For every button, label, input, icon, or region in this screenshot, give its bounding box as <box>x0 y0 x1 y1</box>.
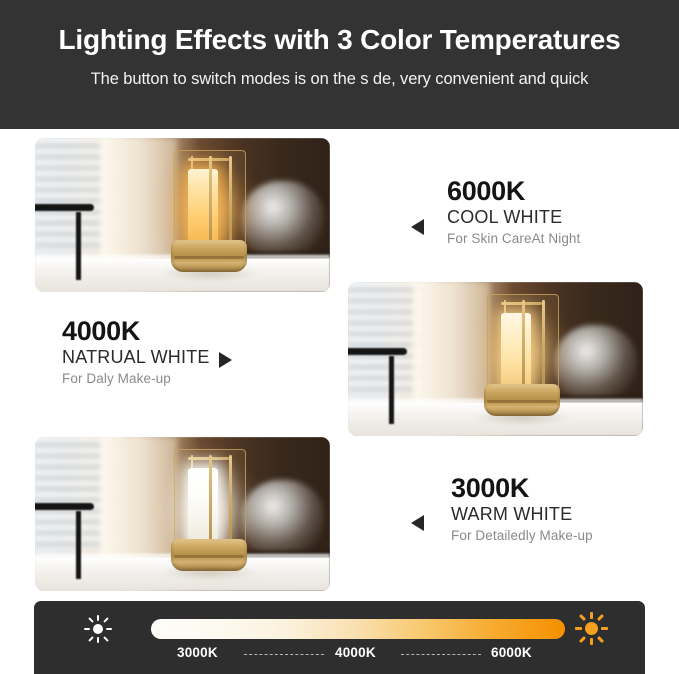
tick-label-6000k: 6000K <box>491 645 532 660</box>
caption-6000k: 6000K COOL WHITE For Skin CareAt Night <box>447 177 580 249</box>
product-photo-6000k <box>35 138 330 292</box>
room-scene <box>348 282 643 436</box>
mode-usage: For Detailedly Make-up <box>451 527 593 546</box>
kelvin-value: 4000K <box>62 317 210 345</box>
lamp-shadow <box>158 267 259 280</box>
mode-usage: For Daly Make-up <box>62 370 210 389</box>
tick-connector <box>401 654 481 655</box>
kelvin-value: 3000K <box>451 474 593 502</box>
table-lamp <box>171 150 248 282</box>
sun-core <box>585 622 598 635</box>
sun-dim-icon <box>84 615 112 643</box>
mode-name: NATRUAL WHITE <box>62 345 210 369</box>
mode-usage: For Skin CareAt Night <box>447 230 580 249</box>
lamp-light-tube <box>188 169 219 246</box>
tick-connector <box>244 654 324 655</box>
black-stand-arm <box>35 204 94 211</box>
table-lamp <box>484 294 561 426</box>
sun-core <box>93 624 103 634</box>
lamp-bar <box>209 455 212 545</box>
black-stand-pole <box>76 511 81 579</box>
sun-bright-icon <box>575 612 608 645</box>
lamp-shadow <box>158 566 259 579</box>
lamp-bar <box>209 156 212 246</box>
caption-3000k: 3000K WARM WHITE For Detailedly Make-up <box>451 474 593 546</box>
color-temperature-gradient-bar[interactable] <box>151 619 565 639</box>
lamp-shadow <box>471 411 572 424</box>
lamp-bar <box>229 455 232 545</box>
table-lamp <box>171 449 248 581</box>
triangle-left-icon <box>411 219 424 235</box>
lamp-base-band <box>174 555 245 558</box>
black-stand-arm <box>35 503 94 510</box>
curtain <box>413 282 490 405</box>
slider-tick-labels: 3000K 4000K 6000K <box>151 645 565 667</box>
page-title: Lighting Effects with 3 Color Temperatur… <box>0 24 679 56</box>
color-temperature-slider-panel: 3000K 4000K 6000K <box>34 601 645 674</box>
product-photo-3000k <box>35 437 330 591</box>
curtain <box>100 138 177 261</box>
triangle-right-icon <box>219 352 232 368</box>
room-scene <box>35 138 330 292</box>
tick-label-4000k: 4000K <box>335 645 376 660</box>
lamp-bar <box>229 156 232 246</box>
glass-vase <box>242 480 325 557</box>
kelvin-value: 6000K <box>447 177 580 205</box>
lamp-light-tube <box>188 468 219 545</box>
mode-name: WARM WHITE <box>451 502 593 526</box>
lamp-base-band <box>487 400 558 403</box>
lamp-bar <box>542 300 545 390</box>
glass-vase <box>242 181 325 258</box>
black-stand-pole <box>389 356 394 424</box>
glass-vase <box>555 325 638 402</box>
page-subtitle: The button to switch modes is on the s d… <box>0 70 679 89</box>
black-stand-pole <box>76 212 81 280</box>
triangle-left-icon <box>411 515 424 531</box>
room-scene <box>35 437 330 591</box>
tick-label-3000k: 3000K <box>177 645 218 660</box>
caption-4000k: 4000K NATRUAL WHITE For Daly Make-up <box>62 317 210 389</box>
lamp-light-tube <box>501 313 532 390</box>
header-banner: Lighting Effects with 3 Color Temperatur… <box>0 0 679 129</box>
black-stand-arm <box>348 348 407 355</box>
mode-name: COOL WHITE <box>447 205 580 229</box>
lamp-bar <box>522 300 525 390</box>
product-photo-4000k <box>348 282 643 436</box>
lamp-base-band <box>174 256 245 259</box>
curtain <box>100 437 177 560</box>
